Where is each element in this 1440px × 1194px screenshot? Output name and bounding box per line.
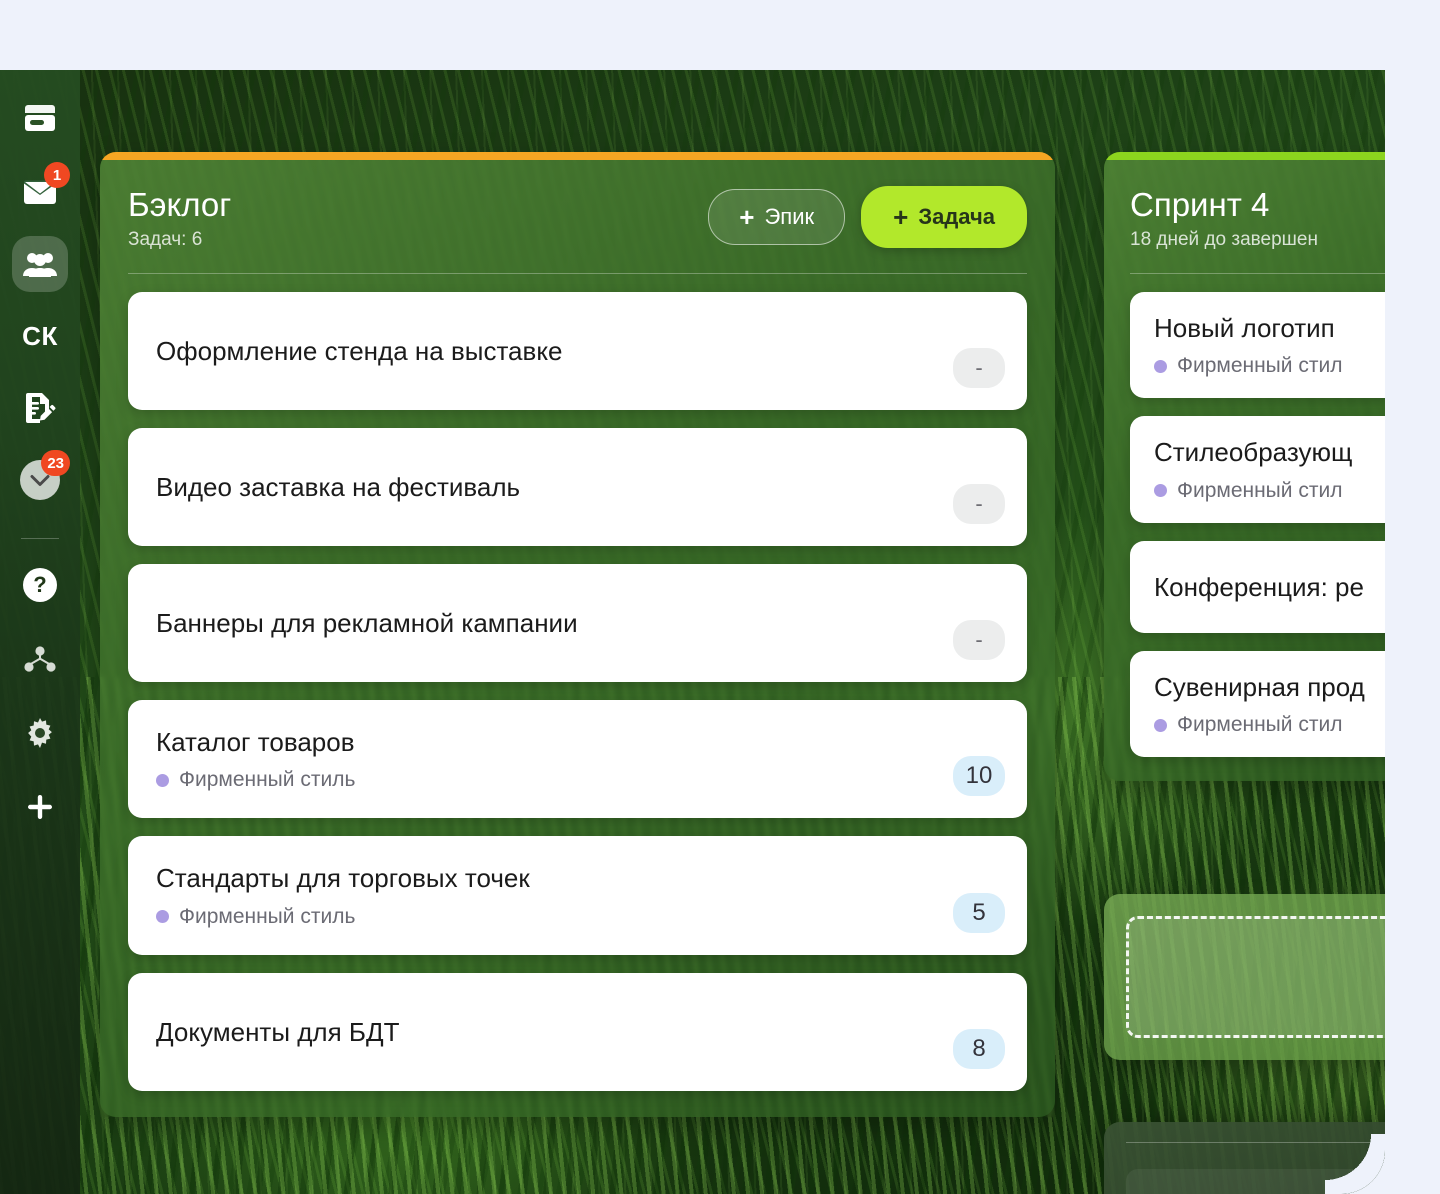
sidebar-item-notifications[interactable]: 23 xyxy=(12,452,68,508)
task-title: Баннеры для рекламной кампании xyxy=(156,607,999,640)
task-title: Стандарты для торговых точек xyxy=(156,862,999,895)
epic-color-dot xyxy=(156,774,169,787)
task-epic-tag: Фирменный стил xyxy=(1154,713,1385,737)
task-title: Каталог товаров xyxy=(156,726,999,759)
question-icon: ? xyxy=(23,568,57,602)
backlog-card-list: Оформление стенда на выставке-Видео заст… xyxy=(128,292,1027,1091)
completed-divider xyxy=(1126,1142,1385,1143)
backlog-accent-bar xyxy=(100,152,1055,160)
sprint-divider xyxy=(1130,273,1385,274)
sidebar: 1 СК xyxy=(0,70,80,1194)
add-task-button[interactable]: + Задача xyxy=(861,186,1027,248)
sidebar-item-user-initials[interactable]: СК xyxy=(12,308,68,364)
task-card[interactable]: Оформление стенда на выставке- xyxy=(128,292,1027,410)
task-epic-label: Фирменный стиль xyxy=(179,905,355,929)
epic-color-dot xyxy=(156,910,169,923)
task-card[interactable]: Баннеры для рекламной кампании- xyxy=(128,564,1027,682)
task-title: Стилеобразующ xyxy=(1154,436,1385,469)
sidebar-item-tasks[interactable] xyxy=(12,380,68,436)
task-title: Новый логотип xyxy=(1154,312,1385,345)
task-epic-tag: Фирменный стил xyxy=(1154,479,1385,503)
epic-color-dot xyxy=(1154,484,1167,497)
task-title: Сувенирная прод xyxy=(1154,671,1385,704)
completed-sprints-card[interactable]: Завершённые сп xyxy=(1126,1169,1385,1194)
mail-badge: 1 xyxy=(44,162,70,188)
task-title: Конференция: ре xyxy=(1154,571,1385,604)
sidebar-item-add[interactable] xyxy=(16,783,64,831)
sprint-card-list: Новый логотипФирменный стилСтилеобразующ… xyxy=(1130,292,1385,758)
task-title: Документы для БДТ xyxy=(156,1016,999,1049)
add-task-label: Задача xyxy=(918,204,995,230)
backlog-title: Бэклог xyxy=(128,186,231,224)
task-title: Видео заставка на фестиваль xyxy=(156,471,999,504)
backlog-column: Бэклог Задач: 6 + Эпик + Задача Оформлен… xyxy=(100,152,1055,1117)
task-card[interactable]: Документы для БДТ8 xyxy=(128,973,1027,1091)
backlog-divider xyxy=(128,273,1027,274)
people-icon xyxy=(22,250,58,278)
task-points-badge: - xyxy=(953,348,1005,388)
sidebar-item-mail[interactable]: 1 xyxy=(12,164,68,220)
backlog-header: Бэклог Задач: 6 + Эпик + Задача xyxy=(128,186,1027,251)
task-epic-tag: Фирменный стиль xyxy=(156,905,999,929)
task-epic-label: Фирменный стил xyxy=(1177,713,1342,737)
sidebar-item-settings[interactable] xyxy=(16,709,64,757)
sprint-column: Спринт 4 18 дней до завершен Новый логот… xyxy=(1104,152,1385,781)
sprint-dropzone[interactable] xyxy=(1126,916,1385,1038)
sprint-dropzone-panel xyxy=(1104,894,1385,1060)
task-epic-tag: Фирменный стиль xyxy=(156,768,999,792)
backlog-task-count: Задач: 6 xyxy=(128,229,231,251)
sidebar-item-team[interactable] xyxy=(12,236,68,292)
task-card[interactable]: Видео заставка на фестиваль- xyxy=(128,428,1027,546)
task-title: Оформление стенда на выставке xyxy=(156,335,999,368)
plus-glyph: + xyxy=(739,204,754,230)
sitemap-icon xyxy=(24,646,56,672)
add-epic-label: Эпик xyxy=(764,204,814,230)
sprint-title: Спринт 4 xyxy=(1130,186,1318,224)
user-initials-label: СК xyxy=(22,321,58,352)
task-points-badge: - xyxy=(953,484,1005,524)
task-card[interactable]: СтилеобразующФирменный стил xyxy=(1130,416,1385,523)
plus-icon xyxy=(26,793,54,821)
sprint-header: Спринт 4 18 дней до завершен xyxy=(1130,186,1385,251)
plus-glyph: + xyxy=(893,204,908,230)
task-epic-label: Фирменный стил xyxy=(1177,354,1342,378)
task-epic-label: Фирменный стиль xyxy=(179,768,355,792)
sidebar-divider xyxy=(21,538,59,539)
task-card[interactable]: Сувенирная продФирменный стил xyxy=(1130,651,1385,758)
task-card[interactable]: Стандарты для торговых точекФирменный ст… xyxy=(128,836,1027,955)
sidebar-item-help[interactable]: ? xyxy=(16,561,64,609)
add-epic-button[interactable]: + Эпик xyxy=(708,189,845,245)
notifications-badge: 23 xyxy=(41,450,70,476)
completed-sprints-panel: Завершённые сп xyxy=(1104,1122,1385,1194)
sprint-accent-bar xyxy=(1104,152,1385,160)
task-epic-label: Фирменный стил xyxy=(1177,479,1342,503)
sprint-deadline: 18 дней до завершен xyxy=(1130,229,1318,251)
sidebar-item-archive[interactable] xyxy=(12,92,68,148)
note-edit-icon xyxy=(24,391,56,425)
task-points-badge: - xyxy=(953,620,1005,660)
task-points-badge: 10 xyxy=(953,756,1005,796)
task-points-badge: 5 xyxy=(953,893,1005,933)
epic-color-dot xyxy=(1154,360,1167,373)
app-window: 1 СК xyxy=(0,70,1385,1194)
task-epic-tag: Фирменный стил xyxy=(1154,354,1385,378)
task-card[interactable]: Новый логотипФирменный стил xyxy=(1130,292,1385,399)
sidebar-item-hierarchy[interactable] xyxy=(16,635,64,683)
task-points-badge: 8 xyxy=(953,1029,1005,1069)
task-card[interactable]: Каталог товаровФирменный стиль10 xyxy=(128,700,1027,819)
epic-color-dot xyxy=(1154,719,1167,732)
task-card[interactable]: Конференция: ре xyxy=(1130,541,1385,633)
gear-icon xyxy=(25,718,55,748)
archive-icon xyxy=(23,105,57,135)
